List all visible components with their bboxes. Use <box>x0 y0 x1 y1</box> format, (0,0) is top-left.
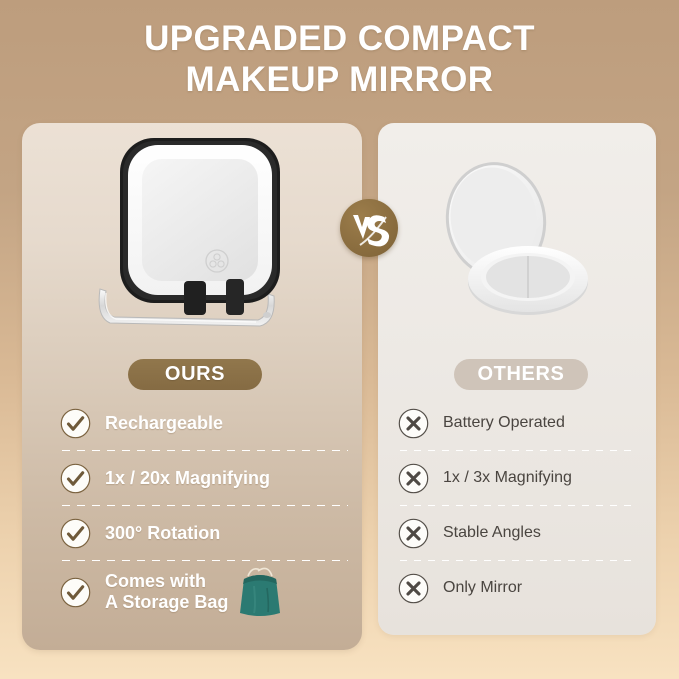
infographic-canvas: UPGRADED COMPACT MAKEUP MIRROR <box>0 0 679 679</box>
ours-badge: OURS <box>128 359 262 390</box>
check-icon <box>60 518 91 549</box>
vs-badge <box>340 199 398 257</box>
title-line-2: MAKEUP MIRROR <box>0 59 679 100</box>
ours-feature-label: 1x / 20x Magnifying <box>105 468 270 489</box>
check-icon <box>60 463 91 494</box>
ours-feature-label: Rechargeable <box>105 413 223 434</box>
check-icon <box>60 577 91 608</box>
others-feature-row-3: Stable Angles <box>398 506 638 560</box>
others-feature-label: Only Mirror <box>443 579 522 598</box>
ours-feature-row-1: Rechargeable <box>60 396 350 450</box>
ours-feature-row-2: 1x / 20x Magnifying <box>60 451 350 505</box>
ours-feature-list: Rechargeable 1x / 20x Magnifying 300° Ro… <box>60 396 350 623</box>
others-feature-row-1: Battery Operated <box>398 396 638 450</box>
check-icon <box>60 408 91 439</box>
ours-feature-label: 300° Rotation <box>105 523 220 544</box>
ours-feature-row-3: 300° Rotation <box>60 506 350 560</box>
others-badge: OTHERS <box>454 359 588 390</box>
ours-product-image <box>86 133 291 338</box>
others-feature-label: Battery Operated <box>443 414 565 433</box>
others-badge-label: OTHERS <box>478 363 565 386</box>
storage-bag-icon <box>234 562 286 623</box>
cross-icon <box>398 518 429 549</box>
others-feature-list: Battery Operated 1x / 3x Magnifying Stab… <box>398 396 638 615</box>
ours-feature-label-line2: A Storage Bag <box>105 592 228 612</box>
others-feature-label: 1x / 3x Magnifying <box>443 469 572 488</box>
ours-feature-row-4: Comes with A Storage Bag <box>60 561 350 623</box>
cross-icon <box>398 573 429 604</box>
title-line-1: UPGRADED COMPACT <box>144 19 535 58</box>
mirror-base <box>468 246 588 315</box>
ours-feature-label-multiline: Comes with A Storage Bag <box>105 571 228 613</box>
others-feature-row-4: Only Mirror <box>398 561 638 615</box>
page-title: UPGRADED COMPACT MAKEUP MIRROR <box>0 18 679 101</box>
ours-feature-label-line1: Comes with <box>105 571 206 591</box>
ours-badge-label: OURS <box>165 363 225 386</box>
others-product-image <box>424 158 596 323</box>
cross-icon <box>398 463 429 494</box>
cross-icon <box>398 408 429 439</box>
others-feature-label: Stable Angles <box>443 524 541 543</box>
others-feature-row-2: 1x / 3x Magnifying <box>398 451 638 505</box>
